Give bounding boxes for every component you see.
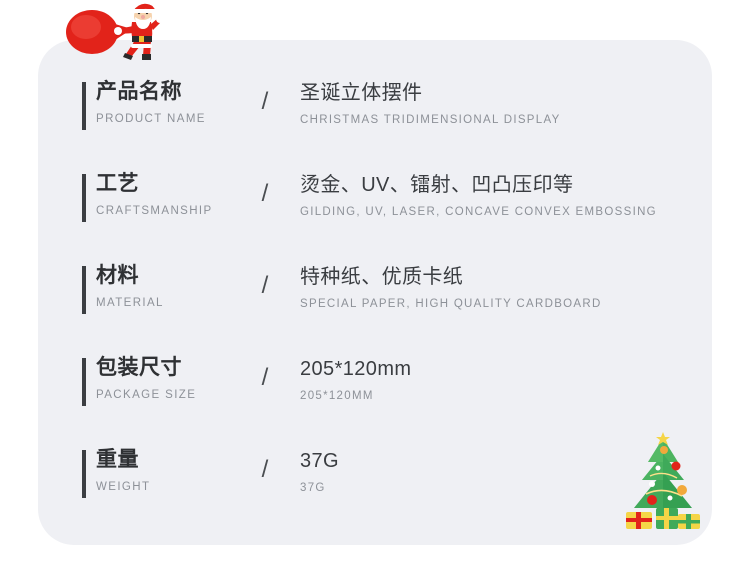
spec-separator: /: [234, 78, 296, 126]
spec-label-block: 包装尺寸 PACKAGE SIZE: [82, 354, 234, 404]
spec-label-cn: 包装尺寸: [96, 354, 234, 382]
spec-separator: /: [234, 446, 296, 494]
santa-claus-with-gift-sack-icon: [62, 0, 172, 62]
accent-bar: [82, 358, 86, 406]
spec-value-cn: 特种纸、优质卡纸: [300, 262, 702, 292]
spec-label-block: 工艺 CRAFTSMANSHIP: [82, 170, 234, 220]
spec-value-en: SPECIAL PAPER, HIGH QUALITY CARDBOARD: [300, 295, 702, 313]
spec-label-cn: 重量: [96, 446, 234, 474]
accent-bar: [82, 450, 86, 498]
spec-value-block: 205*120mm 205*120MM: [296, 354, 702, 405]
spec-separator: /: [234, 262, 296, 310]
spec-value-en: CHRISTMAS TRIDIMENSIONAL DISPLAY: [300, 111, 702, 129]
spec-value-en: 205*120MM: [300, 387, 702, 405]
accent-bar: [82, 174, 86, 222]
spec-label-block: 产品名称 PRODUCT NAME: [82, 78, 234, 128]
christmas-tree-with-gifts-icon: [612, 432, 716, 532]
spec-label-en: PACKAGE SIZE: [96, 386, 234, 404]
spec-label-block: 重量 WEIGHT: [82, 446, 234, 496]
spec-row: 工艺 CRAFTSMANSHIP / 烫金、UV、镭射、凹凸压印等 GILDIN…: [82, 170, 702, 236]
product-spec-card: 产品名称 PRODUCT NAME / 圣诞立体摆件 CHRISTMAS TRI…: [38, 40, 712, 545]
spec-value-cn: 205*120mm: [300, 354, 702, 384]
spec-label-cn: 产品名称: [96, 78, 234, 106]
spec-label-cn: 材料: [96, 262, 234, 290]
spec-value-cn: 圣诞立体摆件: [300, 78, 702, 108]
spec-row: 包装尺寸 PACKAGE SIZE / 205*120mm 205*120MM: [82, 354, 702, 420]
spec-value-block: 特种纸、优质卡纸 SPECIAL PAPER, HIGH QUALITY CAR…: [296, 262, 702, 313]
spec-label-cn: 工艺: [96, 170, 234, 198]
spec-row: 材料 MATERIAL / 特种纸、优质卡纸 SPECIAL PAPER, HI…: [82, 262, 702, 328]
spec-value-block: 圣诞立体摆件 CHRISTMAS TRIDIMENSIONAL DISPLAY: [296, 78, 702, 129]
accent-bar: [82, 82, 86, 130]
spec-label-en: PRODUCT NAME: [96, 110, 234, 128]
spec-label-en: MATERIAL: [96, 294, 234, 312]
spec-value-block: 烫金、UV、镭射、凹凸压印等 GILDING, UV, LASER, CONCA…: [296, 170, 702, 221]
spec-value-en: GILDING, UV, LASER, CONCAVE CONVEX EMBOS…: [300, 203, 702, 221]
spec-separator: /: [234, 354, 296, 402]
spec-row: 重量 WEIGHT / 37G 37G: [82, 446, 702, 512]
spec-separator: /: [234, 170, 296, 218]
spec-label-en: WEIGHT: [96, 478, 234, 496]
spec-value-cn: 烫金、UV、镭射、凹凸压印等: [300, 170, 702, 200]
spec-label-block: 材料 MATERIAL: [82, 262, 234, 312]
spec-label-en: CRAFTSMANSHIP: [96, 202, 234, 220]
accent-bar: [82, 266, 86, 314]
spec-row: 产品名称 PRODUCT NAME / 圣诞立体摆件 CHRISTMAS TRI…: [82, 78, 702, 144]
